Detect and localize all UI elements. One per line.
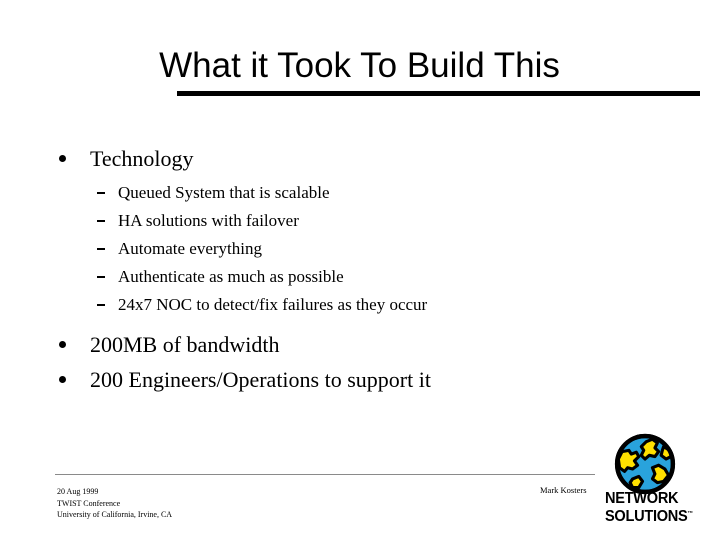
list-item-label: Authenticate as much as possible bbox=[118, 267, 344, 286]
list-item-label: 200MB of bandwidth bbox=[90, 332, 279, 357]
bullet-disc-icon bbox=[59, 341, 66, 348]
list-item: Queued System that is scalable bbox=[55, 179, 675, 207]
presentation-slide: What it Took To Build This Technology Qu… bbox=[0, 0, 719, 539]
list-item: HA solutions with failover bbox=[55, 207, 675, 235]
list-item: 200MB of bandwidth bbox=[55, 330, 675, 363]
bullet-dash-icon bbox=[97, 304, 105, 306]
network-solutions-logo: NETWORK SOLUTIONS™ bbox=[605, 433, 695, 527]
list-item: Authenticate as much as possible bbox=[55, 263, 675, 291]
title-block: What it Took To Build This bbox=[0, 46, 719, 86]
list-item-label: Automate everything bbox=[118, 239, 262, 258]
bullet-disc-icon bbox=[59, 376, 66, 383]
list-item-label: Queued System that is scalable bbox=[118, 183, 330, 202]
bullet-dash-icon bbox=[97, 220, 105, 222]
title-underline-rule bbox=[177, 91, 700, 96]
logo-wordmark-line1: NETWORK bbox=[605, 491, 690, 507]
list-spacer bbox=[55, 319, 675, 330]
bullet-dash-icon bbox=[97, 192, 105, 194]
footer-conference: TWIST Conference bbox=[57, 498, 172, 510]
footer-venue: University of California, Irvine, CA bbox=[57, 509, 172, 521]
page-title: What it Took To Build This bbox=[0, 46, 719, 86]
footer-info: 20 Aug 1999 TWIST Conference University … bbox=[57, 486, 172, 521]
globe-icon bbox=[610, 433, 680, 495]
bullet-dash-icon bbox=[97, 248, 105, 250]
list-item: 24x7 NOC to detect/fix failures as they … bbox=[55, 291, 675, 319]
logo-wordmark: NETWORK SOLUTIONS™ bbox=[605, 491, 690, 524]
bullet-dash-icon bbox=[97, 276, 105, 278]
logo-wordmark-line2: SOLUTIONS™ bbox=[605, 507, 690, 525]
footer-author: Mark Kosters bbox=[540, 485, 587, 496]
logo-wordmark-line2-text: SOLUTIONS bbox=[605, 508, 687, 525]
footer-date: 20 Aug 1999 bbox=[57, 486, 172, 498]
list-item: Technology bbox=[55, 144, 675, 177]
list-item-label: HA solutions with failover bbox=[118, 211, 299, 230]
list-item: Automate everything bbox=[55, 235, 675, 263]
list-item-label: 200 Engineers/Operations to support it bbox=[90, 367, 431, 392]
footer-separator bbox=[55, 474, 595, 475]
list-item-label: 24x7 NOC to detect/fix failures as they … bbox=[118, 295, 427, 314]
trademark-icon: ™ bbox=[687, 511, 693, 517]
list-item-label: Technology bbox=[90, 146, 194, 171]
list-item: 200 Engineers/Operations to support it bbox=[55, 365, 675, 398]
bullet-list: Technology Queued System that is scalabl… bbox=[55, 144, 675, 400]
bullet-disc-icon bbox=[59, 155, 66, 162]
